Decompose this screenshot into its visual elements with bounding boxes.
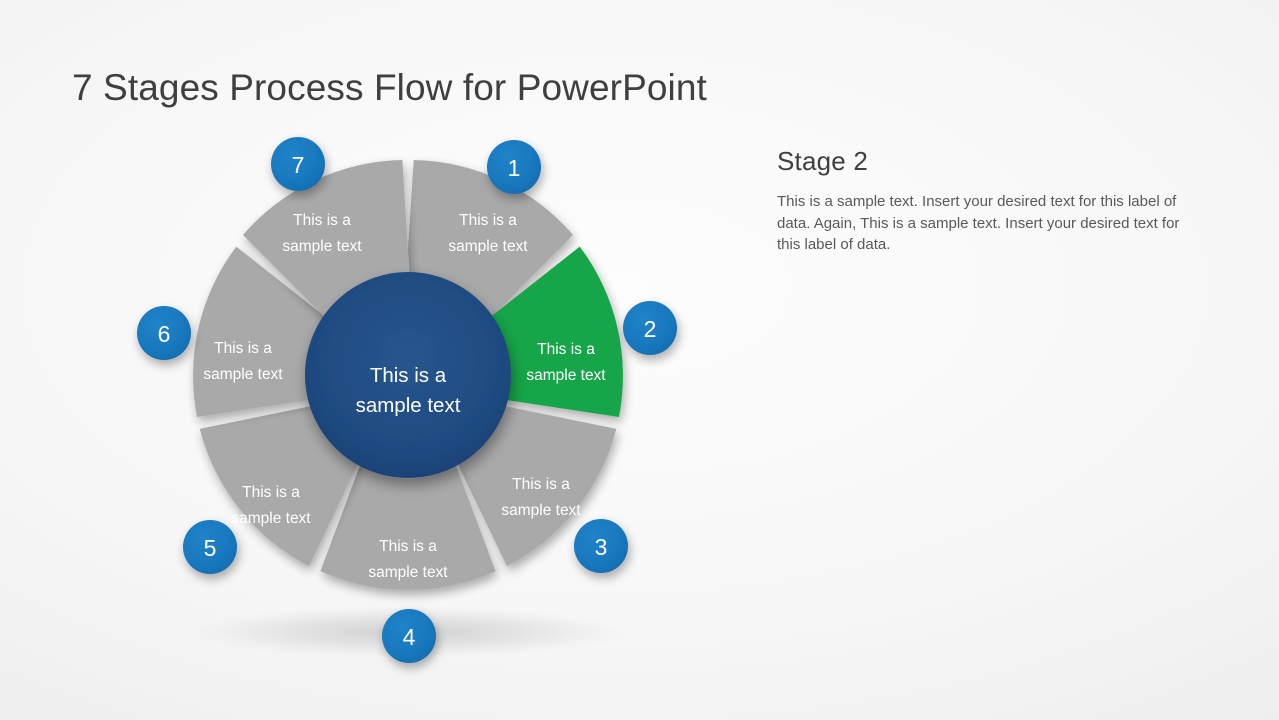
wheel-segment-6-label-line2: sample text	[203, 366, 283, 383]
stage-badge-5[interactable]: 5	[183, 520, 237, 574]
stage-badge-2-number: 2	[644, 316, 657, 342]
wheel-segment-1-label-line2: sample text	[448, 238, 528, 255]
stage-detail-panel: Stage 2 This is a sample text. Insert yo…	[777, 146, 1209, 256]
stage-badge-3[interactable]: 3	[574, 519, 628, 573]
wheel-segment-4-label-line1: This is a	[379, 538, 437, 555]
wheel-segment-7-label-line2: sample text	[282, 238, 362, 255]
wheel-segment-1-label-line1: This is a	[459, 212, 517, 229]
stage-badge-5-number: 5	[204, 535, 217, 561]
wheel-segment-2-label-line2: sample text	[526, 367, 606, 384]
wheel-segment-3-label-line1: This is a	[512, 476, 570, 493]
stage-badge-1[interactable]: 1	[487, 140, 541, 194]
process-wheel-diagram: This is a sample text This is a sample t…	[0, 0, 820, 720]
wheel-hub[interactable]: This is a sample text	[305, 272, 511, 478]
wheel-segment-5-label-line1: This is a	[242, 484, 300, 501]
stage-badge-6-number: 6	[158, 321, 171, 347]
stage-badge-4-number: 4	[403, 624, 416, 650]
slide-canvas: 7 Stages Process Flow for PowerPoint	[0, 0, 1279, 720]
stage-badge-7-number: 7	[292, 152, 305, 178]
wheel-segment-3-label-line2: sample text	[501, 502, 581, 519]
stage-detail-heading: Stage 2	[777, 146, 1209, 177]
stage-badge-7[interactable]: 7	[271, 137, 325, 191]
wheel-segment-6-label-line1: This is a	[214, 340, 272, 357]
stage-badge-3-number: 3	[595, 534, 608, 560]
wheel-segment-7-label-line1: This is a	[293, 212, 351, 229]
stage-badge-4[interactable]: 4	[382, 609, 436, 663]
wheel-svg: This is a sample text This is a sample t…	[0, 0, 820, 720]
wheel-hub-label-line1: This is a	[370, 364, 447, 387]
wheel-segment-5-label-line2: sample text	[231, 510, 311, 527]
wheel-segment-2-label-line1: This is a	[537, 341, 595, 358]
stage-badge-6[interactable]: 6	[137, 306, 191, 360]
stage-badge-2[interactable]: 2	[623, 301, 677, 355]
wheel-hub-label-line2: sample text	[356, 394, 461, 417]
stage-badge-1-number: 1	[508, 155, 521, 181]
wheel-segment-4-label-line2: sample text	[368, 564, 448, 581]
stage-detail-body: This is a sample text. Insert your desir…	[777, 191, 1187, 256]
